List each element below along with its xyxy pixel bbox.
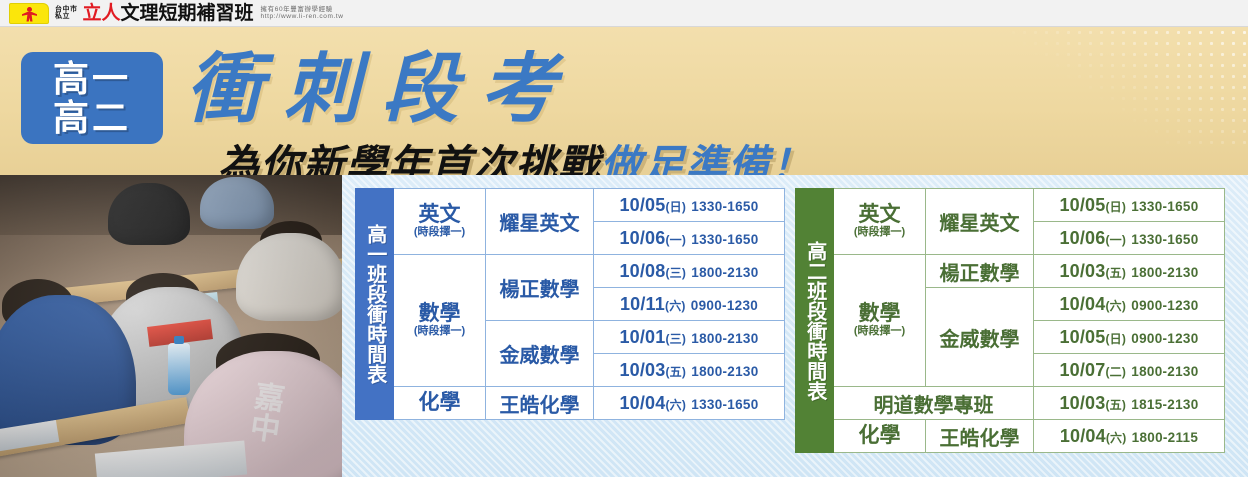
subject-cell: 化學 <box>834 420 926 453</box>
special-class-cell: 明道數學專班 <box>834 387 1034 420</box>
brand-city: 台中市 私立 <box>55 6 78 20</box>
page-subtitle-dark: 為你新學年首次挑戰 <box>218 142 601 175</box>
brand-url[interactable]: http://www.li-ren.com.tw <box>261 13 344 20</box>
teacher-cell: 王皓化學 <box>486 387 594 420</box>
timeslot-cell: 10/08(三) 1800-2130 <box>594 255 785 288</box>
timeslot-cell: 10/04(六) 1800-2115 <box>1034 420 1225 453</box>
timeslot-cell: 10/06(一) 1330-1650 <box>1034 222 1225 255</box>
teacher-cell: 耀星英文 <box>486 189 594 255</box>
grade-badge-line2: 高二 <box>53 99 131 136</box>
timeslot-cell: 10/04(六) 0900-1230 <box>1034 288 1225 321</box>
grade-badge: 高一 高二 <box>21 52 163 144</box>
brand-city-line1: 台中市 <box>55 6 78 13</box>
timeslot-cell: 10/04(六) 1330-1650 <box>594 387 785 420</box>
subject-cell: 英文 (時段擇一) <box>394 189 486 255</box>
timeslot-cell: 10/03(五) 1815-2130 <box>1034 387 1225 420</box>
subject-cell: 英文 (時段擇一) <box>834 189 926 255</box>
brand-name: 立人文理短期補習班 <box>83 4 254 23</box>
schedule-table-grade1: 高一班段衝時間表 英文 (時段擇一) 耀星英文 10/05(日) 1330-16… <box>355 188 785 420</box>
timeslot-cell: 10/06(一) 1330-1650 <box>594 222 785 255</box>
teacher-cell: 楊正數學 <box>926 255 1034 288</box>
table-row[interactable]: 數學 (時段擇一) 楊正數學 10/03(五) 1800-2130 <box>796 255 1225 288</box>
teacher-cell: 楊正數學 <box>486 255 594 321</box>
table-row[interactable]: 明道數學專班 10/03(五) 1815-2130 <box>796 387 1225 420</box>
person-logo-icon <box>9 3 49 24</box>
timeslot-cell: 10/11(六) 0900-1230 <box>594 288 785 321</box>
teacher-cell: 金威數學 <box>486 321 594 387</box>
table-row[interactable]: 數學 (時段擇一) 楊正數學 10/08(三) 1800-2130 <box>356 255 785 288</box>
subject-cell: 數學 (時段擇一) <box>834 255 926 387</box>
brand-name-black: 文理短期補習班 <box>121 3 254 24</box>
teacher-cell: 耀星英文 <box>926 189 1034 255</box>
teacher-cell: 王皓化學 <box>926 420 1034 453</box>
timeslot-cell: 10/05(日) 0900-1230 <box>1034 321 1225 354</box>
table-row[interactable]: 高一班段衝時間表 英文 (時段擇一) 耀星英文 10/05(日) 1330-16… <box>356 189 785 222</box>
grade-badge-line1: 高一 <box>53 60 131 97</box>
table-row[interactable]: 化學 王皓化學 10/04(六) 1330-1650 <box>356 387 785 420</box>
timeslot-cell: 10/07(二) 1800-2130 <box>1034 354 1225 387</box>
poster-root: 台中市 私立 立人文理短期補習班 擁有60年豐富辦學經驗 http://www.… <box>0 0 1248 477</box>
subject-cell: 數學 (時段擇一) <box>394 255 486 387</box>
brand-header: 台中市 私立 立人文理短期補習班 擁有60年豐富辦學經驗 http://www.… <box>0 0 1248 27</box>
brand-city-line2: 私立 <box>55 13 78 20</box>
table-side-header-grade2: 高二班段衝時間表 <box>796 189 834 453</box>
timeslot-cell: 10/05(日) 1330-1650 <box>594 189 785 222</box>
table-row[interactable]: 化學 王皓化學 10/04(六) 1800-2115 <box>796 420 1225 453</box>
page-subtitle: 為你新學年首次挑戰做足準備！ <box>218 145 813 175</box>
timeslot-cell: 10/05(日) 1330-1650 <box>1034 189 1225 222</box>
page-title: 衝刺段考 <box>186 51 578 127</box>
timeslot-cell: 10/03(五) 1800-2130 <box>1034 255 1225 288</box>
timeslot-cell: 10/01(三) 1800-2130 <box>594 321 785 354</box>
table-side-header-grade1: 高一班段衝時間表 <box>356 189 394 420</box>
teacher-cell: 金威數學 <box>926 288 1034 387</box>
classroom-photo: 嘉中 <box>0 175 342 477</box>
halftone-dots-decoration <box>1008 27 1248 147</box>
subject-cell: 化學 <box>394 387 486 420</box>
timeslot-cell: 10/03(五) 1800-2130 <box>594 354 785 387</box>
brand-tagline-block: 擁有60年豐富辦學經驗 http://www.li-ren.com.tw <box>261 6 344 21</box>
page-subtitle-blue: 做足準備！ <box>601 142 814 175</box>
brand-tagline: 擁有60年豐富辦學經驗 <box>261 6 344 13</box>
content-area: 嘉中 高一班段衝時間表 英文 (時段擇一) 耀星英文 10/05(日 <box>0 175 1248 477</box>
hero-banner: 高一 高二 衝刺段考 為你新學年首次挑戰做足準備！ <box>0 27 1248 175</box>
schedule-table-grade2: 高二班段衝時間表 英文 (時段擇一) 耀星英文 10/05(日) 1330-16… <box>795 188 1225 453</box>
table-row[interactable]: 高二班段衝時間表 英文 (時段擇一) 耀星英文 10/05(日) 1330-16… <box>796 189 1225 222</box>
brand-name-red: 立人 <box>83 3 121 24</box>
